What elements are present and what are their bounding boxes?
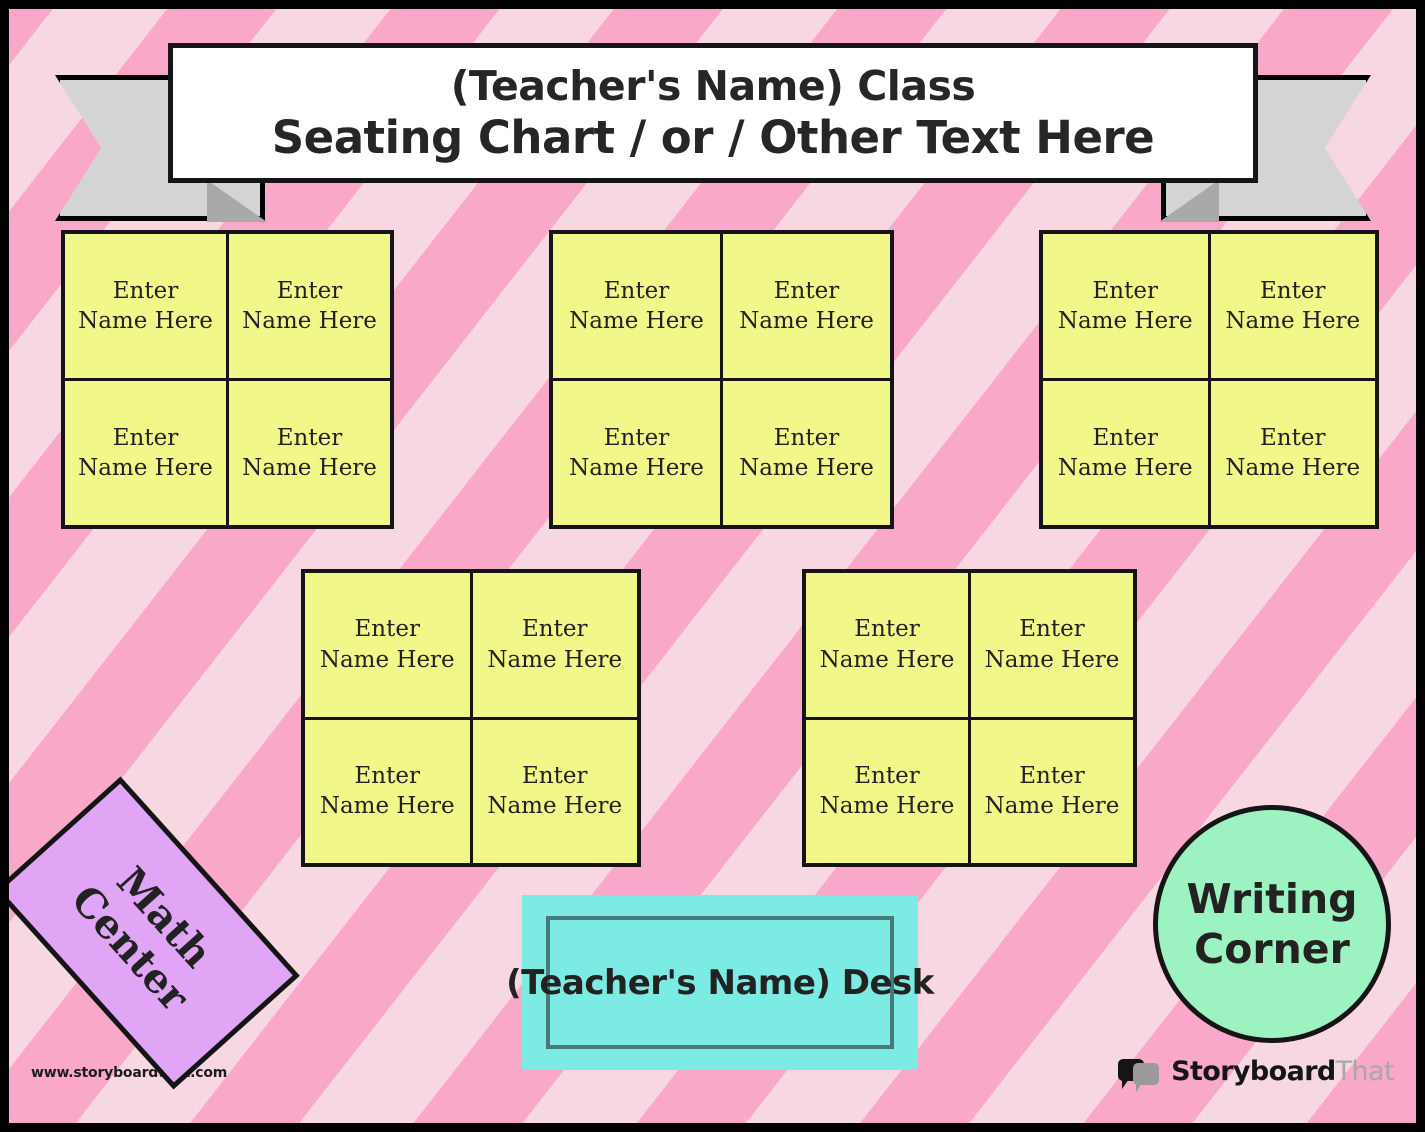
desk-label-line-1: Enter xyxy=(355,761,420,791)
speech-bubble-front-icon xyxy=(1133,1063,1159,1085)
desk-label-line-1: Enter xyxy=(774,423,839,453)
desk-card[interactable]: Enter Name Here xyxy=(229,234,390,378)
logo-wordmark: StoryboardThat xyxy=(1171,1056,1394,1087)
desk-label-line-1: Enter xyxy=(277,276,342,306)
banner-panel[interactable]: (Teacher's Name) Class Seating Chart / o… xyxy=(168,43,1258,183)
desk-label-line-1: Enter xyxy=(522,761,587,791)
desk-label-line-2: Name Here xyxy=(242,306,377,336)
desk-label-line-1: Enter xyxy=(854,761,919,791)
writing-corner-label-line-2: Corner xyxy=(1194,924,1350,974)
desk-label-line-2: Name Here xyxy=(1225,306,1360,336)
desk-label-line-1: Enter xyxy=(113,276,178,306)
desk-card[interactable]: Enter Name Here xyxy=(971,720,1133,864)
desk-label-line-1: Enter xyxy=(1093,276,1158,306)
desk-label-line-1: Enter xyxy=(774,276,839,306)
desk-label-line-2: Name Here xyxy=(739,453,874,483)
desk-label-line-2: Name Here xyxy=(985,791,1120,821)
logo-primary-text: Storyboard xyxy=(1171,1056,1336,1087)
desk-group-1: Enter Name Here Enter Name Here Enter Na… xyxy=(61,230,394,529)
desk-label-line-1: Enter xyxy=(113,423,178,453)
speech-bubbles-icon xyxy=(1118,1057,1162,1087)
desk-card[interactable]: Enter Name Here xyxy=(473,720,638,864)
desk-label-line-2: Name Here xyxy=(487,645,622,675)
desk-label-line-1: Enter xyxy=(854,614,919,644)
desk-label-line-1: Enter xyxy=(522,614,587,644)
math-center-label-stack: Math Center xyxy=(62,846,232,1020)
desk-label-line-2: Name Here xyxy=(78,306,213,336)
desk-card[interactable]: Enter Name Here xyxy=(305,573,470,717)
logo-secondary-text: That xyxy=(1336,1056,1394,1087)
desk-card[interactable]: Enter Name Here xyxy=(553,234,720,378)
zone-writing-corner[interactable]: Writing Corner xyxy=(1153,805,1391,1043)
desk-label-line-2: Name Here xyxy=(820,645,955,675)
desk-label-line-1: Enter xyxy=(1260,423,1325,453)
desk-group-4: Enter Name Here Enter Name Here Enter Na… xyxy=(301,569,641,867)
poster-root: (Teacher's Name) Class Seating Chart / o… xyxy=(0,0,1425,1132)
desk-label-line-2: Name Here xyxy=(1058,306,1193,336)
desk-card[interactable]: Enter Name Here xyxy=(229,381,390,525)
zone-teacher-desk[interactable]: (Teacher's Name) Desk xyxy=(522,895,918,1070)
storyboardthat-logo: StoryboardThat xyxy=(1118,1056,1394,1087)
desk-label-line-2: Name Here xyxy=(320,791,455,821)
desk-label-line-2: Name Here xyxy=(1058,453,1193,483)
desk-card[interactable]: Enter Name Here xyxy=(806,573,968,717)
desk-label-line-2: Name Here xyxy=(487,791,622,821)
desk-card[interactable]: Enter Name Here xyxy=(65,234,226,378)
desk-label-line-1: Enter xyxy=(355,614,420,644)
desk-card[interactable]: Enter Name Here xyxy=(65,381,226,525)
desk-label-line-2: Name Here xyxy=(569,306,704,336)
desk-card[interactable]: Enter Name Here xyxy=(473,573,638,717)
desk-label-line-1: Enter xyxy=(1019,614,1084,644)
desk-card[interactable]: Enter Name Here xyxy=(1211,381,1376,525)
desk-card[interactable]: Enter Name Here xyxy=(806,720,968,864)
desk-label-line-2: Name Here xyxy=(820,791,955,821)
desk-label-line-2: Name Here xyxy=(78,453,213,483)
desk-label-line-2: Name Here xyxy=(1225,453,1360,483)
desk-card[interactable]: Enter Name Here xyxy=(1043,234,1208,378)
page-title-line-1: (Teacher's Name) Class xyxy=(451,66,976,107)
desk-group-2: Enter Name Here Enter Name Here Enter Na… xyxy=(549,230,894,529)
desk-label-line-2: Name Here xyxy=(242,453,377,483)
writing-corner-label-line-1: Writing xyxy=(1187,874,1358,924)
desk-card[interactable]: Enter Name Here xyxy=(1043,381,1208,525)
desk-label-line-1: Enter xyxy=(1260,276,1325,306)
desk-label-line-2: Name Here xyxy=(320,645,455,675)
desk-label-line-1: Enter xyxy=(1093,423,1158,453)
page-title-line-2: Seating Chart / or / Other Text Here xyxy=(272,115,1154,160)
desk-label-line-1: Enter xyxy=(604,276,669,306)
teacher-desk-label: (Teacher's Name) Desk xyxy=(506,963,934,1003)
poster-canvas: (Teacher's Name) Class Seating Chart / o… xyxy=(9,9,1416,1123)
desk-card[interactable]: Enter Name Here xyxy=(1211,234,1376,378)
desk-card[interactable]: Enter Name Here xyxy=(305,720,470,864)
desk-label-line-2: Name Here xyxy=(569,453,704,483)
desk-label-line-1: Enter xyxy=(1019,761,1084,791)
desk-card[interactable]: Enter Name Here xyxy=(971,573,1133,717)
desk-card[interactable]: Enter Name Here xyxy=(553,381,720,525)
desk-card[interactable]: Enter Name Here xyxy=(723,234,890,378)
desk-card[interactable]: Enter Name Here xyxy=(723,381,890,525)
desk-group-3: Enter Name Here Enter Name Here Enter Na… xyxy=(1039,230,1379,529)
desk-label-line-1: Enter xyxy=(604,423,669,453)
title-banner: (Teacher's Name) Class Seating Chart / o… xyxy=(55,35,1371,200)
desk-label-line-2: Name Here xyxy=(985,645,1120,675)
desk-label-line-1: Enter xyxy=(277,423,342,453)
zone-math-center[interactable]: Math Center xyxy=(9,777,300,1090)
desk-group-5: Enter Name Here Enter Name Here Enter Na… xyxy=(802,569,1137,867)
desk-label-line-2: Name Here xyxy=(739,306,874,336)
